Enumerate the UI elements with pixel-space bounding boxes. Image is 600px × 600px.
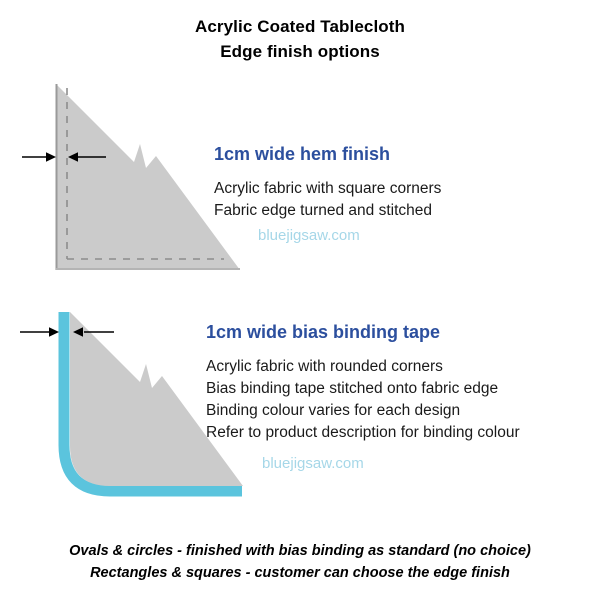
bias-binding-body-line-1: Acrylic fabric with rounded corners — [206, 356, 596, 378]
hem-finish-body-line-2: Fabric edge turned and stitched — [214, 200, 596, 222]
hem-finish-text: 1cm wide hem finish Acrylic fabric with … — [196, 142, 596, 247]
page-title: Acrylic Coated Tablecloth Edge finish op… — [0, 14, 600, 64]
bias-binding-heading: 1cm wide bias binding tape — [196, 320, 596, 344]
footer-note: Ovals & circles - finished with bias bin… — [0, 540, 600, 584]
bias-binding-watermark: bluejigsaw.com — [196, 444, 596, 475]
bias-binding-body-line-3: Binding colour varies for each design — [206, 400, 596, 422]
hem-finish-body-line-1: Acrylic fabric with square corners — [214, 178, 596, 200]
page-title-line-2: Edge finish options — [0, 39, 600, 64]
hem-finish-body: Acrylic fabric with square corners Fabri… — [196, 178, 596, 222]
footer-note-line-1: Ovals & circles - finished with bias bin… — [0, 540, 600, 562]
bias-binding-body: Acrylic fabric with rounded corners Bias… — [196, 356, 596, 444]
bias-binding-body-line-2: Bias binding tape stitched onto fabric e… — [206, 378, 596, 400]
hem-finish-heading: 1cm wide hem finish — [196, 142, 596, 166]
binding-width-arrow-left — [20, 327, 59, 337]
hem-width-arrow-left — [22, 152, 56, 162]
hem-finish-watermark: bluejigsaw.com — [196, 222, 596, 247]
footer-note-line-2: Rectangles & squares - customer can choo… — [0, 562, 600, 584]
diagram-page: Acrylic Coated Tablecloth Edge finish op… — [0, 0, 600, 600]
bias-binding-body-line-4: Refer to product description for binding… — [206, 422, 596, 444]
page-title-line-1: Acrylic Coated Tablecloth — [0, 14, 600, 39]
bias-binding-text: 1cm wide bias binding tape Acrylic fabri… — [196, 320, 596, 475]
